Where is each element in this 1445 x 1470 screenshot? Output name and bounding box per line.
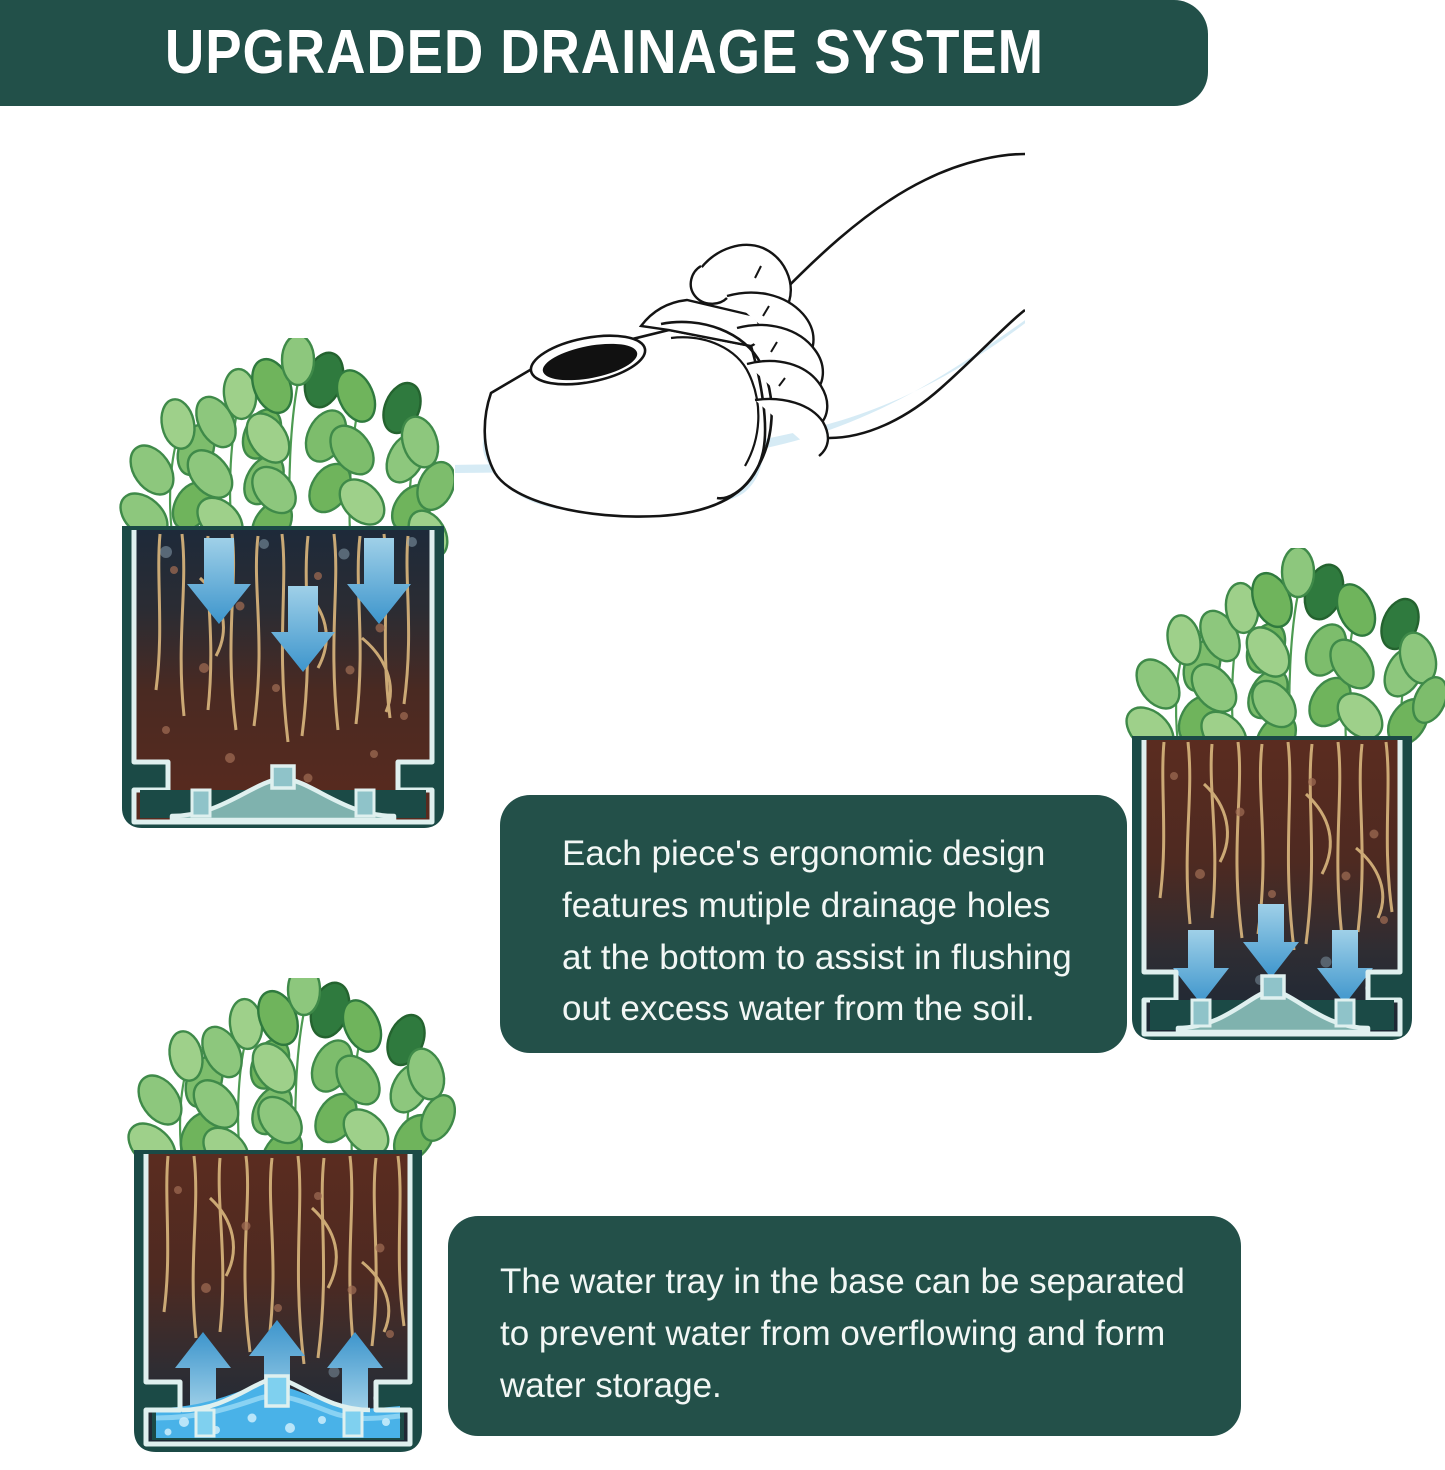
planter-bottom-left (104, 978, 456, 1470)
drain-hole-center (266, 1376, 288, 1406)
drain-hole-right (344, 1410, 362, 1436)
drain-hole-left (192, 790, 210, 816)
drain-hole-left (196, 1410, 214, 1436)
drain-hole-right (1336, 1000, 1354, 1026)
callout-drainage-holes-text: Each piece's ergonomic design features m… (562, 828, 1089, 1035)
drain-hole-center (272, 766, 294, 788)
callout-water-tray: The water tray in the base can be separa… (448, 1216, 1241, 1436)
planter-top-left (112, 338, 454, 843)
arm-outline-top (755, 154, 1025, 320)
page-title: UPGRADED DRAINAGE SYSTEM (164, 22, 1043, 84)
planter-right (1100, 548, 1445, 1060)
drain-hole-left (1192, 1000, 1210, 1026)
arm-outline-bottom (829, 310, 1025, 438)
drain-hole-right (356, 790, 374, 816)
callout-water-tray-text: The water tray in the base can be separa… (500, 1256, 1201, 1411)
title-banner: UPGRADED DRAINAGE SYSTEM (0, 0, 1208, 106)
callout-drainage-holes: Each piece's ergonomic design features m… (500, 795, 1127, 1053)
drain-hole-center (1262, 976, 1284, 998)
watering-can-illustration (455, 148, 1025, 578)
